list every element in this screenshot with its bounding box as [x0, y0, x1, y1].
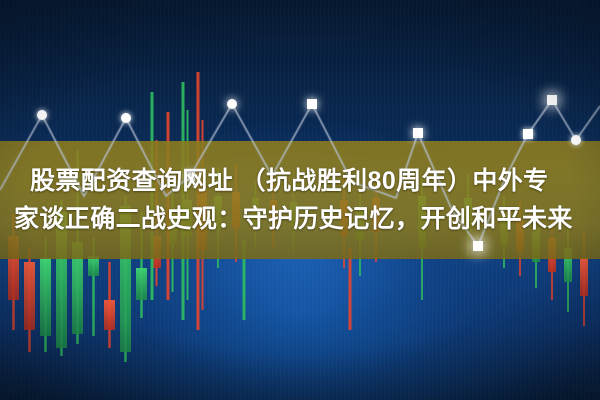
- candle-body: [24, 262, 35, 330]
- headline-line-1: 股票配资查询网址 （抗战胜利80周年）中外专: [14, 162, 586, 200]
- candle-body: [136, 268, 147, 300]
- candle-body: [580, 258, 588, 296]
- candle-body: [40, 258, 51, 336]
- banner-image: 股票配资查询网址 （抗战胜利80周年）中外专 家谈正确二战史观：守护历史记忆，开…: [0, 0, 600, 400]
- candle-body: [88, 256, 99, 276]
- headline-text-block: 股票配资查询网址 （抗战胜利80周年）中外专 家谈正确二战史观：守护历史记忆，开…: [0, 141, 600, 259]
- candle-body: [104, 300, 115, 330]
- headline-line-2: 家谈正确二战史观：守护历史记忆，开创和平未来: [14, 200, 586, 238]
